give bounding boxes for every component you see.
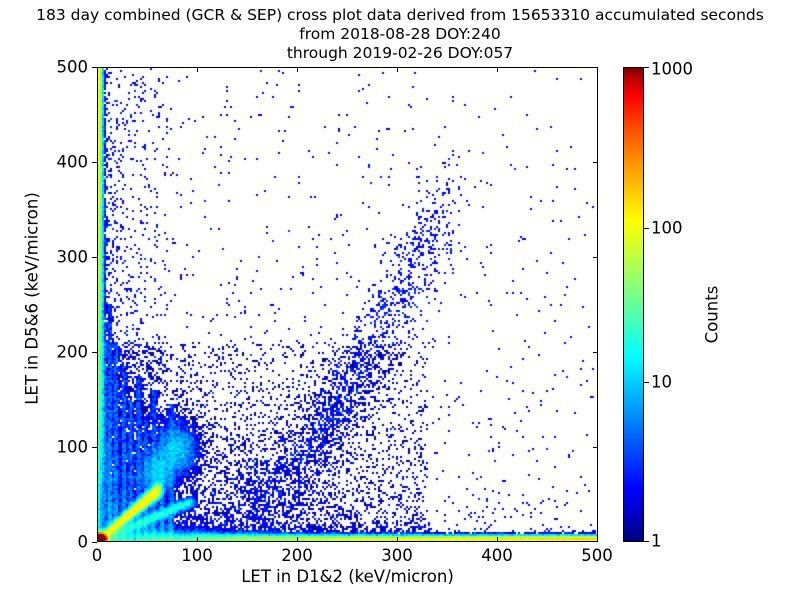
ytick-mark-400 bbox=[92, 162, 97, 163]
ytick-label-100: 100 bbox=[0, 438, 88, 457]
xtick-mark-500 bbox=[597, 537, 598, 542]
ytick-mark-right-200 bbox=[593, 352, 598, 353]
figure-canvas: 183 day combined (GCR & SEP) cross plot … bbox=[0, 0, 800, 600]
xtick-mark-top-400 bbox=[497, 67, 498, 72]
colorbar-tick-mark-1000 bbox=[644, 67, 649, 68]
y-axis-label: LET in D5&6 (keV/micron) bbox=[23, 149, 42, 449]
xtick-mark-top-100 bbox=[197, 67, 198, 72]
colorbar-tick-mark-1 bbox=[644, 541, 649, 542]
colorbar-gradient-jet bbox=[623, 67, 644, 542]
xtick-label-500: 500 bbox=[581, 546, 613, 565]
xtick-label-100: 100 bbox=[181, 546, 213, 565]
ytick-mark-right-300 bbox=[593, 257, 598, 258]
colorbar-tick-label-1: 1 bbox=[651, 532, 662, 551]
ytick-mark-100 bbox=[92, 447, 97, 448]
ytick-mark-right-400 bbox=[593, 162, 598, 163]
plot-axes-area bbox=[97, 67, 598, 542]
colorbar-tick-mark-100 bbox=[644, 228, 649, 229]
colorbar-axis-label: Counts bbox=[703, 235, 722, 395]
xtick-mark-200 bbox=[297, 537, 298, 542]
ytick-label-400: 400 bbox=[0, 153, 88, 172]
ytick-mark-right-100 bbox=[593, 447, 598, 448]
xtick-mark-top-200 bbox=[297, 67, 298, 72]
colorbar-tick-label-10: 10 bbox=[651, 373, 672, 392]
plot-title: 183 day combined (GCR & SEP) cross plot … bbox=[0, 6, 800, 63]
ytick-mark-300 bbox=[92, 257, 97, 258]
xtick-mark-0 bbox=[97, 537, 98, 542]
title-line-2: from 2018-08-28 DOY:240 bbox=[0, 25, 800, 44]
xtick-label-200: 200 bbox=[281, 546, 313, 565]
colorbar-tick-label-1000: 1000 bbox=[651, 60, 693, 79]
ytick-label-500: 500 bbox=[0, 58, 88, 77]
ytick-label-300: 300 bbox=[0, 248, 88, 267]
xtick-mark-300 bbox=[397, 537, 398, 542]
xtick-label-300: 300 bbox=[381, 546, 413, 565]
ytick-label-0: 0 bbox=[0, 533, 88, 552]
xtick-mark-top-300 bbox=[397, 67, 398, 72]
xtick-mark-100 bbox=[197, 537, 198, 542]
x-axis-label: LET in D1&2 (keV/micron) bbox=[97, 567, 598, 586]
ytick-mark-200 bbox=[92, 352, 97, 353]
xtick-label-0: 0 bbox=[92, 546, 103, 565]
ytick-mark-500 bbox=[92, 67, 97, 68]
colorbar-tick-label-100: 100 bbox=[651, 219, 683, 238]
density-scatter-plot bbox=[98, 68, 597, 541]
colorbar-tick-mark-10 bbox=[644, 382, 649, 383]
title-line-1: 183 day combined (GCR & SEP) cross plot … bbox=[0, 6, 800, 25]
ytick-label-200: 200 bbox=[0, 343, 88, 362]
xtick-mark-400 bbox=[497, 537, 498, 542]
xtick-label-400: 400 bbox=[481, 546, 513, 565]
ytick-mark-0 bbox=[92, 542, 97, 543]
colorbar: 1 10 100 1000 bbox=[623, 67, 644, 542]
